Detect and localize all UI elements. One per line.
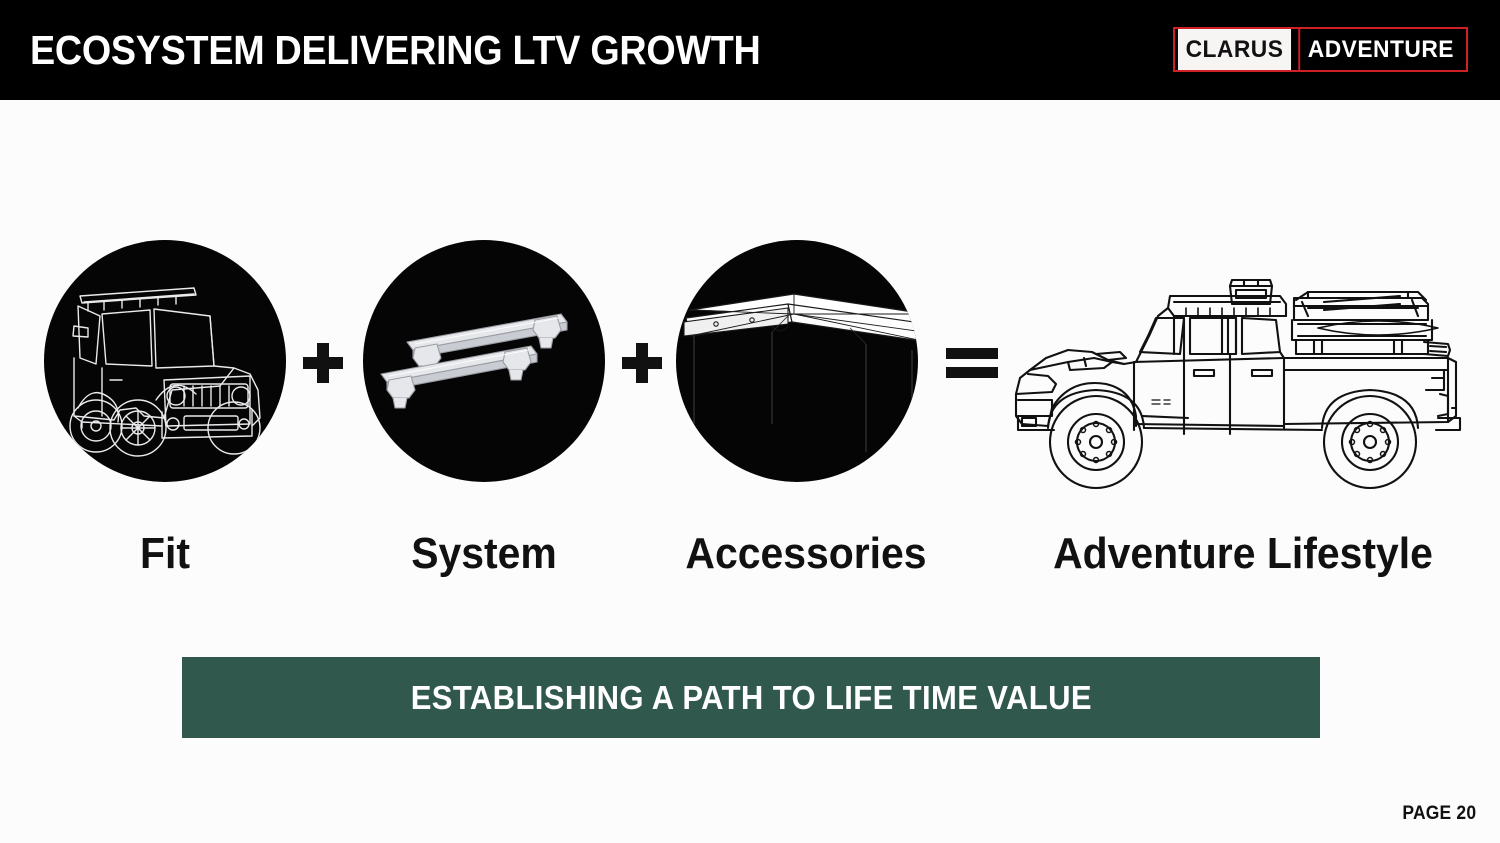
equation-label-accessories: Accessories — [685, 528, 908, 580]
tagline-banner: ESTABLISHING A PATH TO LIFE TIME VALUE — [182, 657, 1320, 738]
logo-word-adventure: ADVENTURE — [1298, 29, 1461, 70]
equation-item-accessories — [676, 240, 918, 482]
roof-rack-crossbars-icon — [363, 240, 605, 482]
circle-badge-fit — [44, 240, 286, 482]
overland-pickup-truck-icon — [1008, 258, 1478, 494]
equals-operator — [944, 344, 1000, 382]
equation-item-fit — [44, 240, 286, 482]
equation-label-system: System — [372, 528, 595, 580]
equation-label-fit: Fit — [53, 528, 276, 580]
page-number: PAGE 20 — [1402, 803, 1476, 825]
circle-badge-accessories — [676, 240, 918, 482]
plus-operator — [300, 340, 346, 386]
equation-item-adventure-lifestyle — [1008, 258, 1478, 494]
logo-word-clarus: CLARUS — [1178, 29, 1291, 70]
brand-logo: CLARUS ADVENTURE — [1173, 27, 1468, 72]
tagline-text: ESTABLISHING A PATH TO LIFE TIME VALUE — [410, 679, 1091, 717]
suv-4x4-icon — [44, 240, 286, 482]
page-title: ECOSYSTEM DELIVERING LTV GROWTH — [30, 26, 761, 74]
plus-operator — [619, 340, 665, 386]
vehicle-awning-icon — [676, 240, 918, 482]
equation-label-adventure-lifestyle: Adventure Lifestyle — [1020, 528, 1466, 580]
circle-badge-system — [363, 240, 605, 482]
slide-canvas: ECOSYSTEM DELIVERING LTV GROWTH CLARUS A… — [0, 0, 1500, 843]
equation-item-system — [363, 240, 605, 482]
